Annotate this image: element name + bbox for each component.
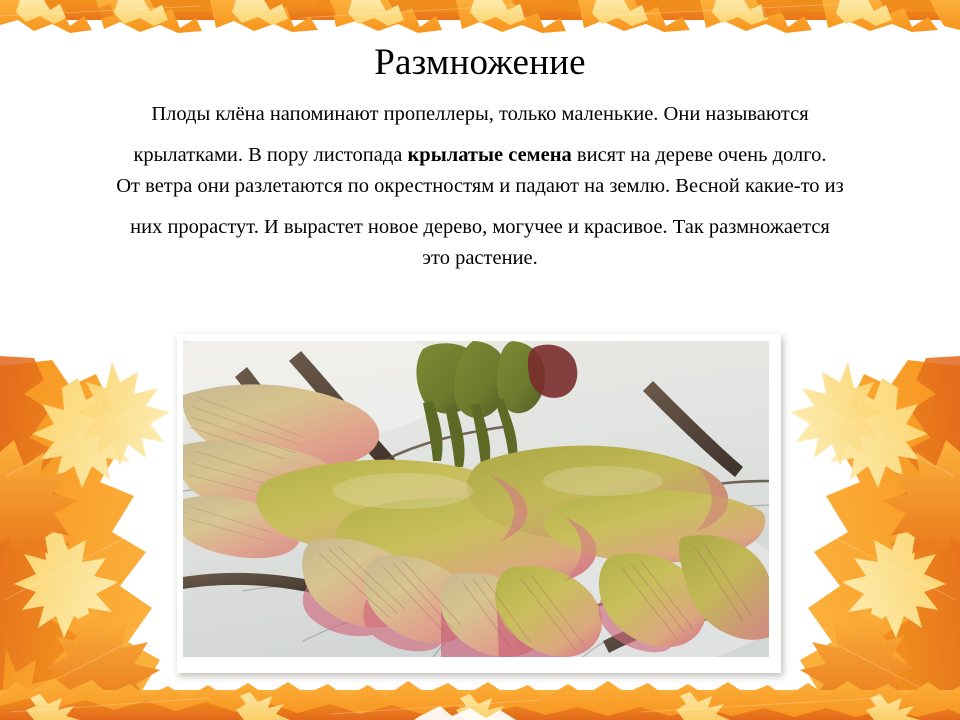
decorative-border-bottom: depositphotos bbox=[0, 676, 960, 720]
maple-leaf-pattern-bottom bbox=[0, 676, 960, 720]
body-line-1: Плоды клёна напоминают пропеллеры, тольк… bbox=[30, 104, 930, 125]
highlighted-term: крылатые семена bbox=[407, 144, 571, 166]
decorative-border-left: depositphotos bbox=[0, 356, 176, 720]
maple-samaras-photograph bbox=[183, 341, 769, 657]
body-line-2-pre: крылатками. В пору листопада bbox=[133, 144, 407, 166]
maple-leaf-pattern-right bbox=[779, 356, 960, 720]
body-text: Плоды клёна напоминают пропеллеры, тольк… bbox=[30, 104, 930, 269]
presentation-slide: depositphotos bbox=[0, 0, 960, 720]
body-line-5: это растение. bbox=[30, 248, 930, 269]
body-line-2: крылатками. В пору листопада крылатые се… bbox=[30, 145, 930, 166]
photo-illustration bbox=[183, 341, 769, 657]
maple-leaf-pattern-left bbox=[0, 356, 176, 720]
body-line-3: От ветра они разлетаются по окрестностям… bbox=[30, 176, 930, 197]
body-line-2-post: висят на дереве очень долго. bbox=[572, 144, 827, 166]
slide-content: Размножение Плоды клёна напоминают пропе… bbox=[0, 0, 960, 268]
decorative-border-right: photos bbox=[779, 356, 960, 720]
body-line-4: них прорастут. И вырастет новое дерево, … bbox=[30, 217, 930, 238]
page-title: Размножение bbox=[0, 0, 960, 83]
photo-frame bbox=[177, 334, 781, 673]
